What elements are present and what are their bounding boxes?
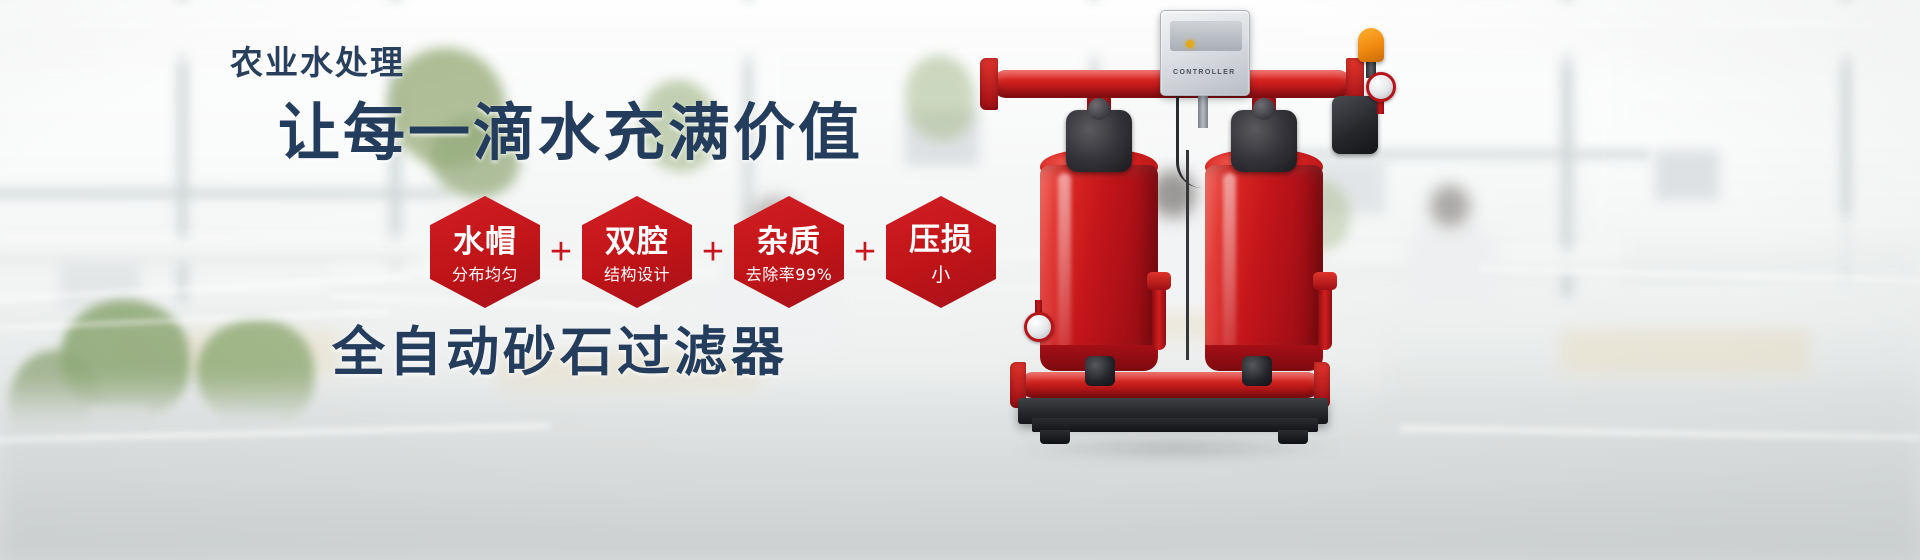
- feature-badge-subtitle: 小: [931, 266, 951, 285]
- air-release-valve-icon: [1358, 28, 1384, 62]
- feature-badge-water-cap[interactable]: 水帽 分布均匀: [430, 196, 540, 308]
- skid-foot: [1040, 430, 1070, 444]
- feature-badge-subtitle: 去除率99%: [746, 267, 833, 283]
- feature-badge-subtitle: 结构设计: [604, 267, 670, 283]
- controller-brand-label: CONTROLLER: [1173, 69, 1239, 76]
- hero-banner: 农业水处理 让每一滴水充满价值 全自动砂石过滤器 水帽 分布均匀 + 双腔 结构…: [0, 0, 1920, 560]
- pipe-fitting: [1242, 356, 1272, 386]
- feature-badge-subtitle: 分布均匀: [452, 267, 518, 283]
- feature-badge-title: 水帽: [453, 227, 517, 258]
- feature-badge-title: 双腔: [605, 227, 669, 258]
- feature-badge-dual-chamber[interactable]: 双腔 结构设计: [582, 196, 692, 308]
- lower-manifold-pipe: [1020, 372, 1320, 398]
- valve-knob: [1253, 98, 1275, 120]
- controller-display: [1170, 21, 1242, 51]
- pipe-flange: [980, 58, 998, 110]
- filter-tank: [1205, 165, 1323, 357]
- feature-badge-impurity[interactable]: 杂质 去除率99%: [734, 196, 844, 308]
- banner-eyebrow: 农业水处理: [230, 46, 405, 79]
- feature-badge-row: 水帽 分布均匀 + 双腔 结构设计 + 杂质 去除率99% + 压损 小: [430, 196, 996, 308]
- drain-pipe: [1152, 280, 1166, 350]
- feature-badge-title: 压损: [909, 225, 973, 256]
- product-base-skid: [1032, 418, 1318, 432]
- plus-separator-icon: +: [844, 233, 886, 271]
- controller-mount: [1198, 94, 1208, 128]
- pipe-fitting: [1085, 356, 1115, 386]
- pressure-gauge: [1366, 72, 1396, 102]
- pressure-gauge: [1024, 312, 1054, 342]
- feature-badge-title: 杂质: [757, 227, 821, 258]
- drain-cap: [1313, 272, 1337, 290]
- control-cable: [1186, 150, 1220, 360]
- valve-knob: [1088, 98, 1110, 120]
- product-image-sand-filter: CONTROLLER: [980, 0, 1460, 560]
- skid-foot: [1278, 430, 1308, 444]
- banner-headline: 让每一滴水充满价值: [278, 100, 863, 165]
- plus-separator-icon: +: [540, 233, 582, 271]
- pipe-elbow: [1332, 96, 1378, 154]
- controller-box: CONTROLLER: [1160, 10, 1250, 96]
- filter-tank: [1040, 165, 1158, 357]
- status-led-icon: [1186, 40, 1194, 48]
- plus-separator-icon: +: [692, 233, 734, 271]
- drain-pipe: [1318, 280, 1332, 350]
- drain-cap: [1147, 272, 1171, 290]
- banner-subheadline: 全自动砂石过滤器: [332, 326, 788, 379]
